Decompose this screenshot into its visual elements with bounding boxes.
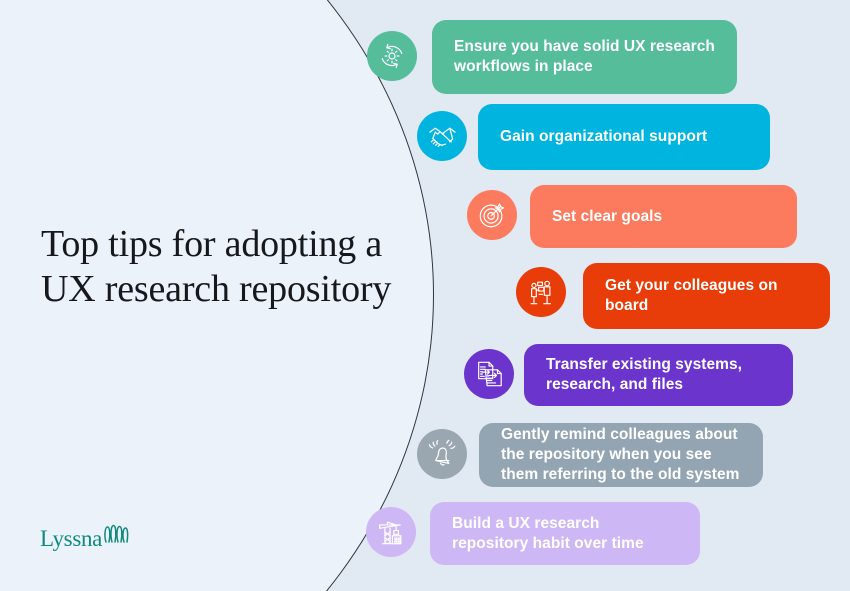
tip-card-2[interactable]: Gain organizational support: [478, 104, 770, 170]
page-title: Top tips for adopting a UX research repo…: [41, 222, 411, 312]
colleagues-presentation-icon: [516, 267, 566, 317]
tip-card-4[interactable]: Get your colleagues on board: [583, 263, 830, 329]
brand-name: Lyssna: [40, 527, 102, 550]
infographic-canvas: Top tips for adopting a UX research repo…: [0, 0, 850, 591]
transfer-files-icon: [464, 349, 514, 399]
waveform-icon: [103, 524, 129, 548]
tip-card-1[interactable]: Ensure you have solid UX research workfl…: [432, 20, 737, 94]
tip-card-7[interactable]: Build a UX research repository habit ove…: [430, 502, 700, 565]
workflow-gear-icon: [367, 31, 417, 81]
bell-reminder-icon: [417, 429, 467, 479]
handshake-icon: [417, 111, 467, 161]
brand-logo: Lyssna: [40, 524, 129, 550]
crane-icon: [366, 507, 416, 557]
target-icon: [467, 190, 517, 240]
tip-card-6[interactable]: Gently remind colleagues about the repos…: [479, 423, 763, 487]
tip-card-3[interactable]: Set clear goals: [530, 185, 797, 248]
tip-card-5[interactable]: Transfer existing systems, research, and…: [524, 344, 793, 406]
